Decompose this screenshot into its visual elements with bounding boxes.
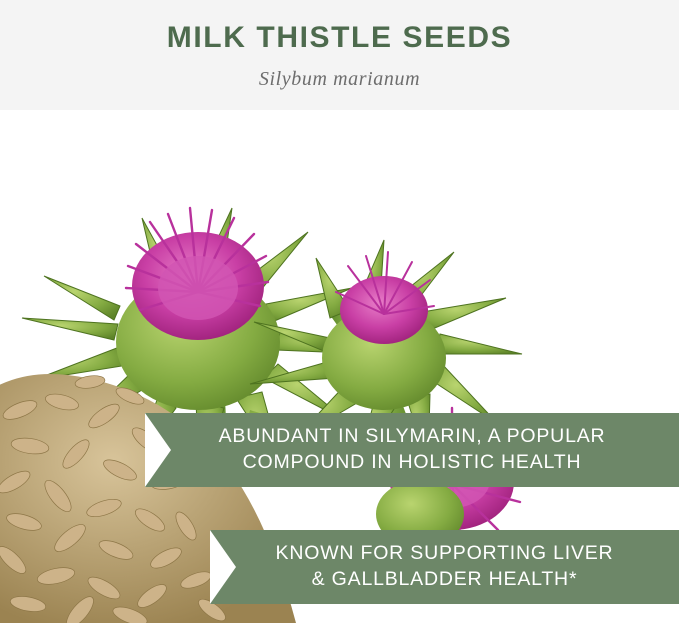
latin-name: Silybum marianum bbox=[259, 68, 420, 91]
ribbon-notch-icon bbox=[145, 413, 171, 487]
ribbon-notch-icon bbox=[210, 530, 236, 604]
header-band: MILK THISTLE SEEDS Silybum marianum bbox=[0, 0, 679, 110]
product-infographic: MILK THISTLE SEEDS Silybum marianum bbox=[0, 0, 679, 623]
flower-right-upper bbox=[336, 252, 434, 344]
banner-liver: KNOWN FOR SUPPORTING LIVER & GALLBLADDER… bbox=[210, 530, 679, 604]
banner-silymarin-text: ABUNDANT IN SILYMARIN, A POPULAR COMPOUN… bbox=[199, 424, 626, 475]
page-title: MILK THISTLE SEEDS bbox=[167, 22, 513, 54]
product-photo: ABUNDANT IN SILYMARIN, A POPULAR COMPOUN… bbox=[0, 110, 679, 623]
banner-liver-text: KNOWN FOR SUPPORTING LIVER & GALLBLADDER… bbox=[256, 541, 634, 592]
banner-silymarin: ABUNDANT IN SILYMARIN, A POPULAR COMPOUN… bbox=[145, 413, 679, 487]
